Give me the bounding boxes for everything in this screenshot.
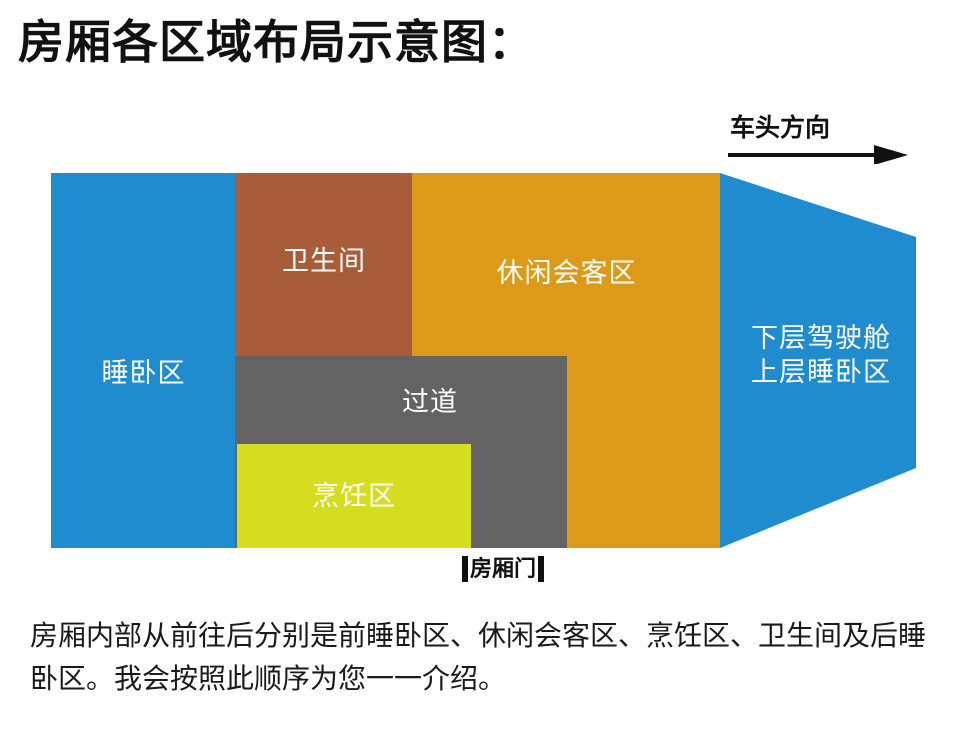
slide-canvas: 房厢各区域布局示意图： 车头方向 睡卧区 卫生间 休闲会客区 过道 烹饪区: [0, 0, 960, 740]
zone-rear-sleeping-area[interactable]: 睡卧区: [51, 173, 236, 548]
cabin-layout-diagram: 睡卧区 卫生间 休闲会客区 过道 烹饪区 下层驾驶舱 上层睡卧区 房厢门: [0, 0, 960, 600]
caption-text: 房厢内部从前往后分别是前睡卧区、休闲会客区、烹饪区、卫生间及后睡卧区。我会按照此…: [30, 614, 930, 701]
zone-label-corridor: 过道: [402, 386, 458, 419]
zone-label-cab: 下层驾驶舱 上层睡卧区: [726, 322, 916, 390]
zone-bathroom[interactable]: 卫生间: [235, 173, 413, 357]
cabin-door-marker: 房厢门: [462, 553, 544, 585]
door-bar-left-icon: [462, 556, 468, 582]
zone-cab[interactable]: 下层驾驶舱 上层睡卧区: [718, 170, 920, 551]
zone-label-lounge: 休闲会客区: [497, 257, 637, 290]
zone-label-bathroom: 卫生间: [282, 245, 366, 278]
door-bar-right-icon: [538, 556, 544, 582]
zone-kitchen[interactable]: 烹饪区: [237, 444, 471, 548]
door-label: 房厢门: [470, 558, 536, 580]
zone-label-rear-sleeping-area: 睡卧区: [102, 357, 186, 390]
zone-label-kitchen: 烹饪区: [312, 480, 396, 513]
